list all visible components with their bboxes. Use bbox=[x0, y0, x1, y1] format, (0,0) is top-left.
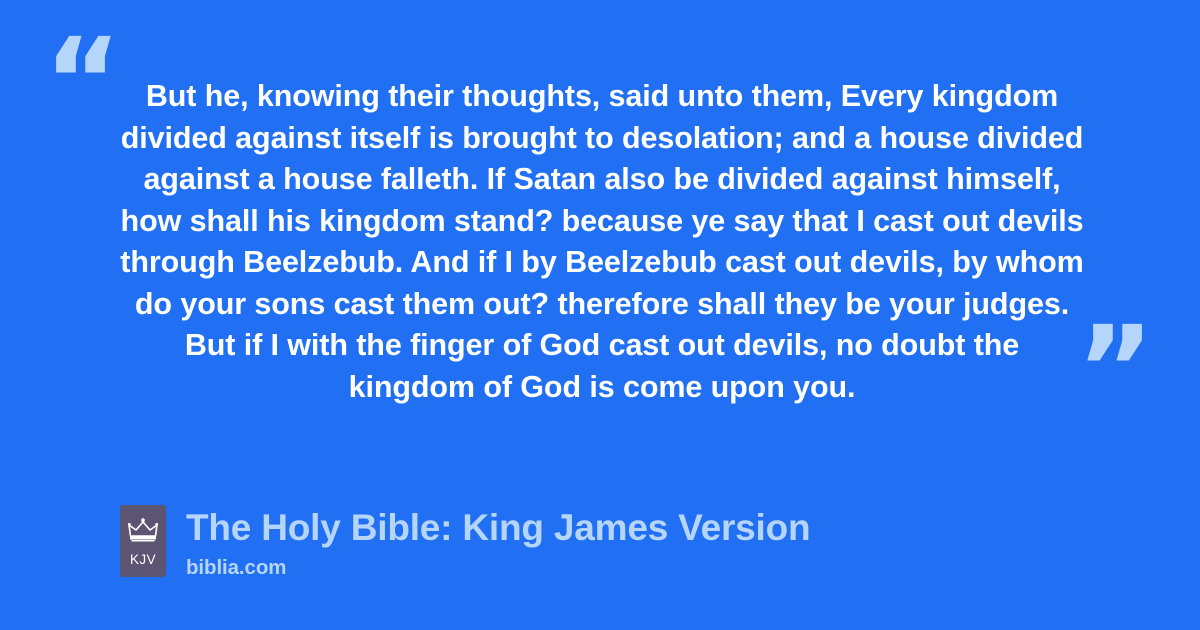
branding-footer: KJV The Holy Bible: King James Version b… bbox=[120, 505, 810, 581]
close-quote-icon: ” bbox=[1076, 310, 1154, 428]
quote-card: “ But he, knowing their thoughts, said u… bbox=[0, 0, 1200, 440]
quote-text: But he, knowing their thoughts, said unt… bbox=[118, 76, 1086, 408]
site-url[interactable]: biblia.com bbox=[186, 555, 810, 581]
brand-text-block: The Holy Bible: King James Version bibli… bbox=[186, 505, 810, 581]
kjv-logo-badge: KJV bbox=[120, 505, 166, 577]
crown-icon bbox=[128, 517, 158, 543]
bible-version-title: The Holy Bible: King James Version bbox=[186, 507, 810, 549]
logo-abbreviation: KJV bbox=[130, 552, 156, 567]
open-quote-icon: “ bbox=[44, 22, 122, 140]
